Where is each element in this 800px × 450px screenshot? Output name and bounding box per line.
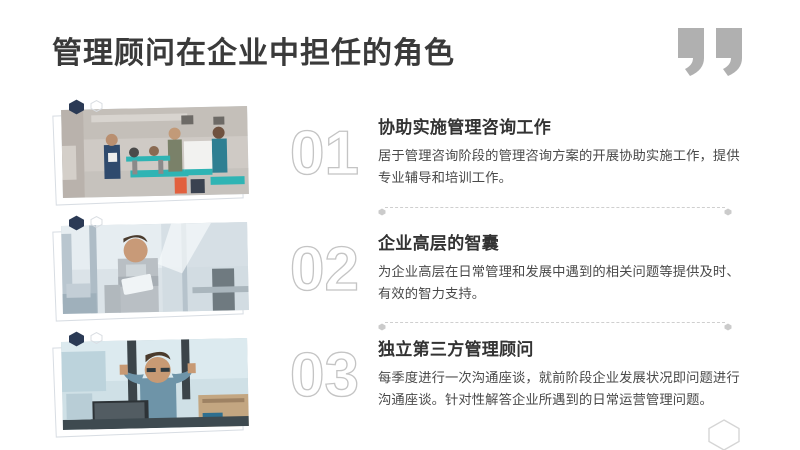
- hexagon-icon: [706, 418, 742, 450]
- divider-cap-left-icon: [378, 318, 386, 326]
- item-heading: 独立第三方管理顾问: [378, 340, 748, 360]
- item-text-block: 企业高层的智囊 为企业高层在日常管理和发展中遇到的相关问题等提供及时、有效的智力…: [378, 234, 748, 304]
- divider-cap-left-icon: [378, 203, 386, 211]
- item-heading: 企业高层的智囊: [378, 234, 748, 254]
- divider: [378, 203, 732, 211]
- item-number-02: 02: [290, 234, 376, 298]
- svg-text:02: 02: [290, 235, 359, 298]
- list-item-photo: [62, 340, 248, 428]
- divider-cap-right-icon: [724, 318, 732, 326]
- item-text-block: 独立第三方管理顾问 每季度进行一次沟通座谈，就前阶段企业发展状况即问题进行沟通座…: [378, 340, 748, 410]
- list-item-photo: [62, 224, 248, 312]
- quote-mark-icon: [676, 26, 748, 78]
- page-title: 管理顾问在企业中担任的角色: [52, 28, 455, 72]
- man-with-tablet-photo: [61, 222, 249, 314]
- svg-text:01: 01: [290, 119, 359, 182]
- item-body: 每季度进行一次沟通座谈，就前阶段企业发展状况即问题进行沟通座谈。针对性解答企业所…: [378, 367, 748, 410]
- item-body: 为企业高层在日常管理和发展中遇到的相关问题等提供及时、有效的智力支持。: [378, 261, 748, 304]
- hexagon-outline-icon: [90, 215, 103, 227]
- item-number-01: 01: [290, 118, 376, 182]
- hexagon-badge-icon: [68, 331, 85, 347]
- divider-line: [385, 207, 725, 208]
- divider-line: [385, 322, 725, 323]
- item-number-03: 03: [290, 340, 376, 404]
- item-heading: 协助实施管理咨询工作: [378, 118, 748, 138]
- hexagon-badge-icon: [68, 99, 85, 115]
- hexagon-outline-icon: [90, 331, 103, 343]
- hexagon-badge-icon: [68, 215, 85, 231]
- list-item-photo: [62, 108, 248, 196]
- slide-canvas: 管理顾问在企业中担任的角色: [0, 0, 800, 450]
- hexagon-outline-icon: [90, 99, 103, 111]
- divider-cap-right-icon: [724, 203, 732, 211]
- relaxed-man-at-desk-photo: [61, 338, 249, 430]
- item-body: 居于管理咨询阶段的管理咨询方案的开展协助实施工作，提供专业辅导和培训工作。: [378, 145, 748, 188]
- item-text-block: 协助实施管理咨询工作 居于管理咨询阶段的管理咨询方案的开展协助实施工作，提供专业…: [378, 118, 748, 188]
- svg-text:03: 03: [290, 341, 359, 404]
- divider: [378, 318, 732, 326]
- team-meeting-photo: [61, 106, 249, 198]
